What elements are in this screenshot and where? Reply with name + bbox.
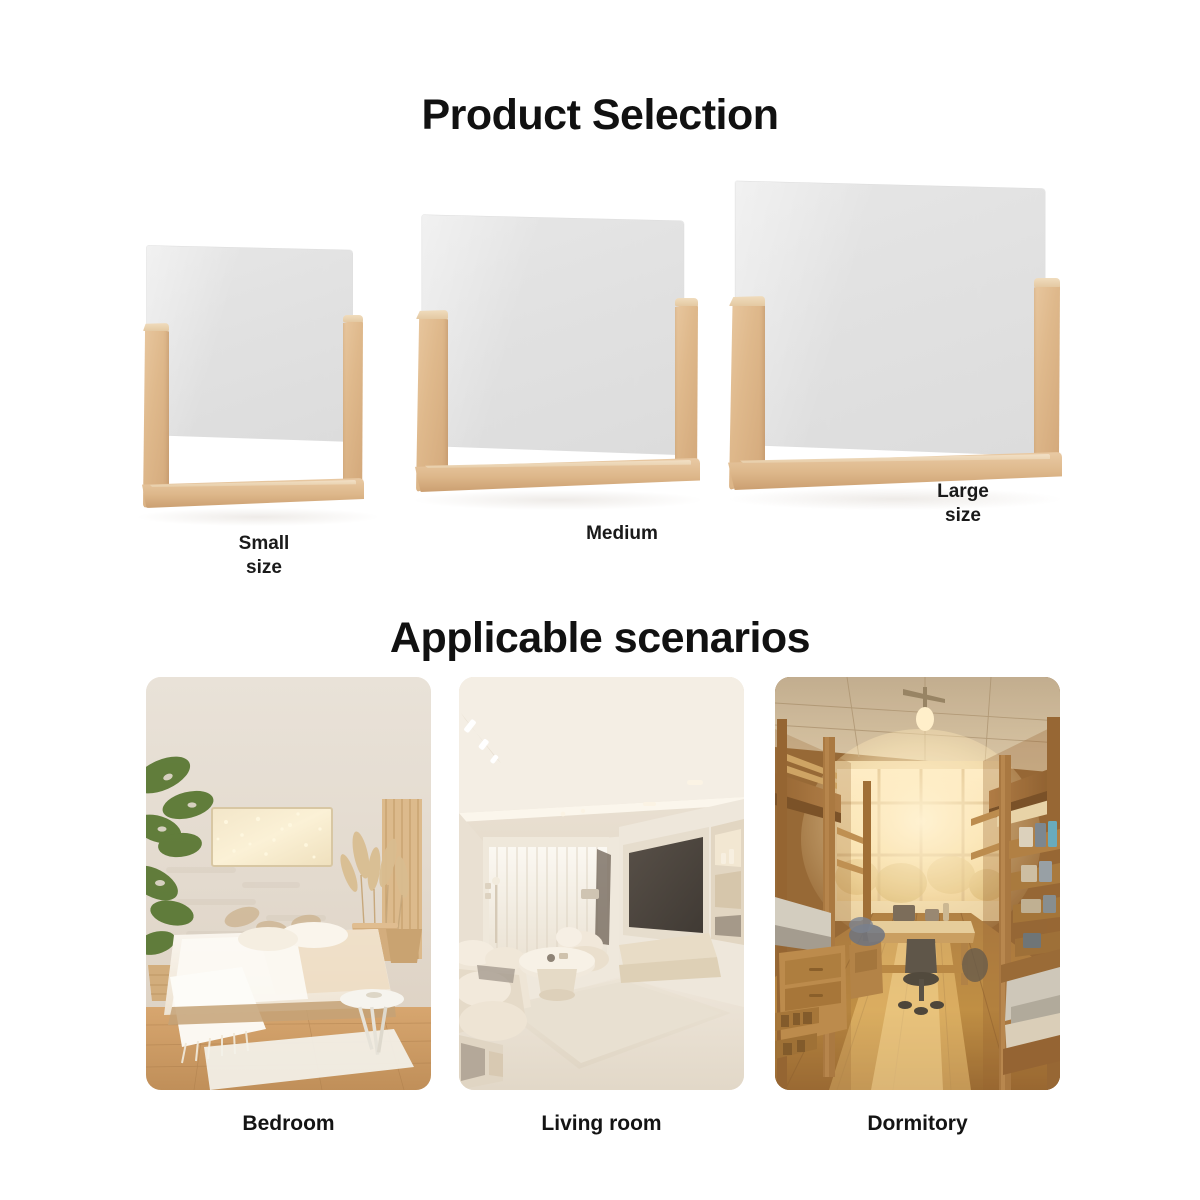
stand-shadow — [415, 490, 701, 510]
bedroom-illustration — [146, 677, 431, 1090]
scenario-label-bedroom: Bedroom — [146, 1112, 431, 1136]
product-illustration-medium — [403, 202, 713, 532]
scenario-label-living-room: Living room — [459, 1112, 744, 1136]
stand-post-right-top — [1034, 278, 1060, 287]
product-label-small: Small size — [184, 532, 344, 581]
page-title-applicable-scenarios: Applicable scenarios — [0, 614, 1200, 663]
whiteboard-panel — [422, 215, 684, 455]
stand-post-right — [1034, 282, 1060, 464]
stand-post-left-top — [729, 296, 765, 306]
scenario-card-dormitory[interactable]: Dormitory — [775, 677, 1060, 1090]
stand-post-right-top — [343, 315, 363, 322]
dormitory-illustration — [775, 677, 1060, 1090]
scenario-label-dormitory: Dormitory — [775, 1112, 1060, 1136]
whiteboard-panel — [735, 181, 1045, 456]
scenario-photo-bedroom — [146, 677, 431, 1090]
stand-post-left — [143, 326, 169, 508]
stand-post-left-top — [416, 310, 448, 319]
stand-post-left-top — [143, 323, 169, 331]
scenario-photo-living-room — [459, 677, 744, 1090]
stand-post-right — [675, 302, 698, 470]
stand-post-right-top — [675, 298, 698, 306]
product-illustration-small — [128, 230, 393, 530]
page-title-product-selection: Product Selection — [0, 91, 1200, 140]
product-label-medium: Medium — [542, 522, 702, 546]
product-option-medium[interactable]: Medium — [403, 202, 713, 532]
product-option-small[interactable]: Small size — [128, 230, 393, 530]
product-selection-section: Small size Medium Large size — [0, 160, 1200, 540]
scenario-photo-dormitory — [775, 677, 1060, 1090]
living-room-illustration — [459, 677, 744, 1090]
scenario-card-living-room[interactable]: Living room — [459, 677, 744, 1090]
scenario-card-bedroom[interactable]: Bedroom — [146, 677, 431, 1090]
applicable-scenarios-section: Bedroom — [0, 660, 1200, 1160]
stand-post-left — [416, 314, 448, 492]
stand-shadow — [138, 508, 378, 526]
stand-post-right — [343, 318, 363, 486]
whiteboard-panel — [147, 246, 353, 442]
product-option-large[interactable]: Large size — [716, 170, 1076, 535]
product-label-large: Large size — [883, 480, 1043, 529]
